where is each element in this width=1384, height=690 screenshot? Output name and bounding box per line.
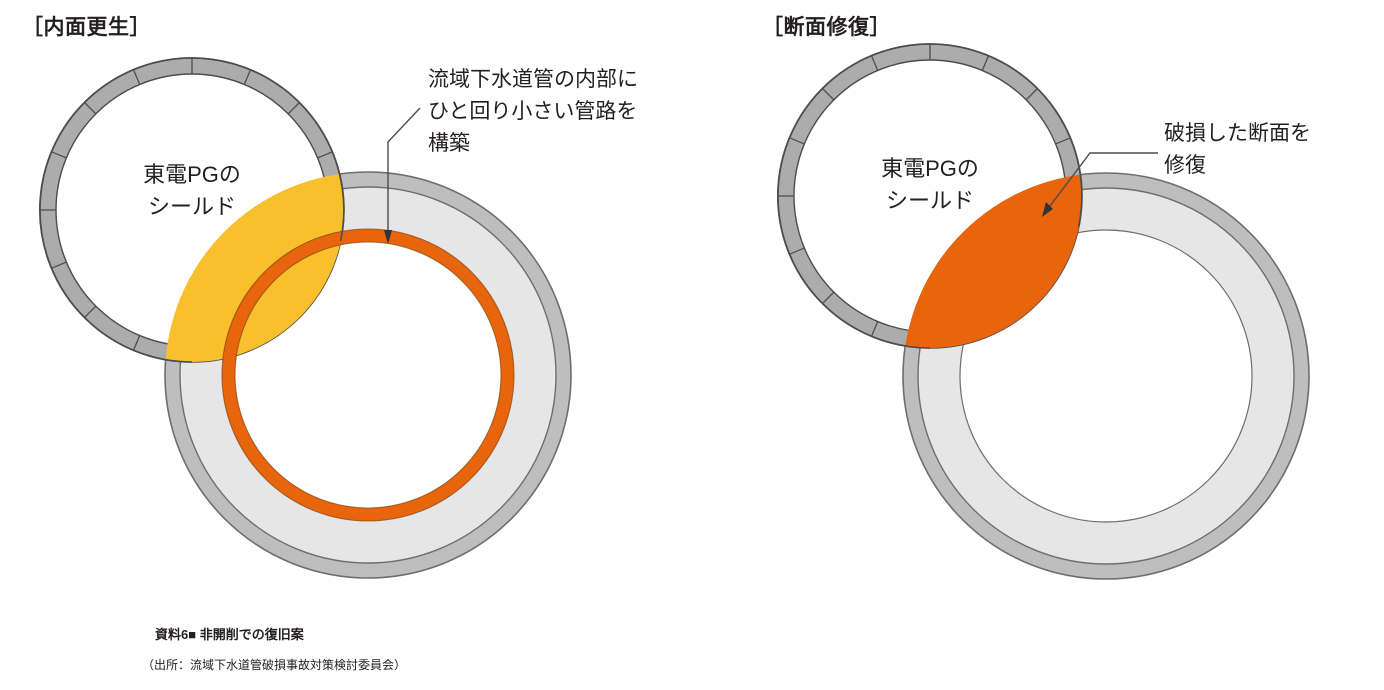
caption-title: 資料6■ 非開削での復旧案 — [155, 627, 305, 642]
panel-section-repair: ［断面修復］ — [762, 15, 1311, 579]
figure-stage: ［内面更生］ — [0, 0, 1384, 690]
figure-caption: 資料6■ 非開削での復旧案 （出所：流域下水道管破損事故対策検討委員会） — [142, 627, 406, 672]
caption-source: （出所：流域下水道管破損事故対策検討委員会） — [142, 657, 406, 672]
shield-label-left-line1: 東電PGの — [143, 162, 241, 187]
callout-left-line3: 構築 — [428, 132, 470, 155]
panel-inner-lining: ［内面更生］ — [22, 15, 638, 578]
panel-title-right: ［断面修復］ — [762, 15, 891, 39]
shield-label-right-line2: シールド — [886, 188, 974, 213]
callout-left-line2: ひと回り小さい管路を — [428, 100, 637, 123]
callout-right-line1: 破損した断面を — [1164, 122, 1311, 145]
shield-label-right-line1: 東電PGの — [881, 156, 979, 181]
pipe-repair-diagram: ［内面更生］ — [0, 0, 1384, 690]
callout-left-line1: 流域下水道管の内部に — [428, 68, 638, 91]
callout-right-line2: 修復 — [1164, 154, 1206, 177]
panel-title-left: ［内面更生］ — [22, 15, 151, 39]
shield-label-left-line2: シールド — [148, 194, 236, 219]
